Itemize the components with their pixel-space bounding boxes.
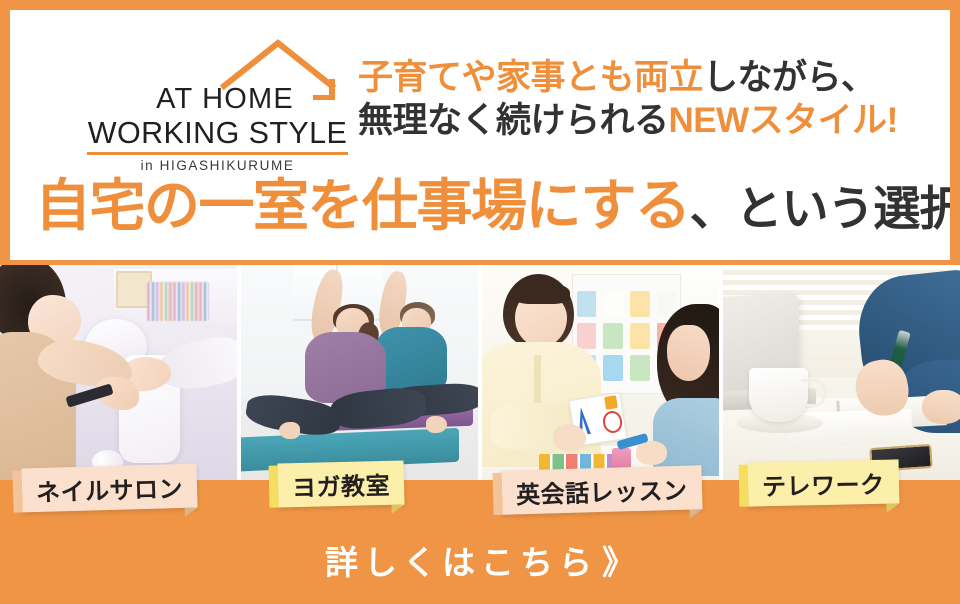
- tagline-line-2: 無理なく続けられるNEWスタイル!: [358, 99, 950, 142]
- woman-a-foot: [279, 422, 300, 439]
- photo-nail-salon[interactable]: [0, 265, 237, 480]
- tag-fold: [886, 503, 899, 512]
- photo-label-yoga-class: ヨガ教室: [277, 460, 404, 507]
- photo-label-nail-salon: ネイルサロン: [21, 464, 197, 513]
- tagline-line-1-rest: しながら、: [703, 58, 876, 97]
- tag-stub: [12, 470, 22, 512]
- headline-highlight: 自宅の一室を仕事場にする: [35, 174, 690, 237]
- polish-bottles: [147, 282, 209, 321]
- teacher-bangs: [513, 282, 570, 304]
- brand-logo: AT HOME WORKING STYLE in HIGASHIKURUME: [85, 38, 350, 163]
- tag-fold: [392, 504, 405, 513]
- tag-stub: [492, 473, 502, 515]
- page-title: 自宅の一室を仕事場にする、という選択。: [35, 178, 945, 234]
- photo-label-text: テレワーク: [762, 464, 885, 502]
- photo-label-english-lesson: 英会話レッスン: [501, 465, 702, 515]
- pink-block: [612, 448, 631, 470]
- woman-b-body: [376, 327, 447, 392]
- logo-divider: [87, 152, 348, 155]
- tagline-line-1-highlight: 子育てや家事とも両立: [358, 58, 703, 97]
- flashcard-mark-yellow: [604, 395, 618, 410]
- photo-strip: [0, 265, 960, 480]
- photo-label-text: ヨガ教室: [292, 465, 391, 502]
- photo-label-text: 英会話レッスン: [516, 470, 688, 510]
- logo-line-2: WORKING STYLE: [85, 118, 350, 149]
- woman-b-foot: [426, 416, 447, 433]
- coffee-cup: [749, 368, 808, 422]
- photo-label-text: ネイルサロン: [36, 468, 184, 507]
- teacher-hand: [553, 424, 586, 452]
- tag-stub: [269, 466, 279, 508]
- photo-label-telework: テレワーク: [748, 459, 899, 506]
- header-card: AT HOME WORKING STYLE in HIGASHIKURUME 子…: [10, 10, 950, 260]
- cta-link[interactable]: 詳しくはこちら》: [0, 536, 960, 584]
- photo-english-lesson[interactable]: [482, 265, 719, 480]
- cup-handle: [801, 379, 827, 407]
- headline-rest: 、という選択。: [690, 182, 950, 235]
- promo-banner[interactable]: AT HOME WORKING STYLE in HIGASHIKURUME 子…: [0, 0, 960, 604]
- photo-yoga-class[interactable]: [241, 265, 478, 480]
- chevron-right-icon: 》: [602, 544, 635, 581]
- tag-fold: [689, 509, 702, 518]
- tagline-line-2-rest: 無理なく続けられる: [358, 101, 669, 140]
- logo-line-1: AT HOME: [125, 85, 325, 114]
- tag-fold: [185, 508, 198, 517]
- tagline-line-2-highlight: NEWスタイル!: [669, 101, 898, 140]
- tagline-line-1: 子育てや家事とも両立しながら、: [358, 56, 950, 99]
- child-hand: [636, 441, 667, 465]
- tag-stub: [739, 465, 749, 507]
- child-face: [667, 325, 710, 381]
- child-body: [653, 398, 719, 475]
- photo-telework[interactable]: [723, 265, 960, 480]
- resting-hand: [922, 390, 960, 424]
- tagline: 子育てや家事とも両立しながら、 無理なく続けられるNEWスタイル!: [358, 56, 950, 143]
- logo-line-3: in HIGASHIKURUME: [85, 159, 350, 173]
- cta-label: 詳しくはこちら: [325, 544, 598, 581]
